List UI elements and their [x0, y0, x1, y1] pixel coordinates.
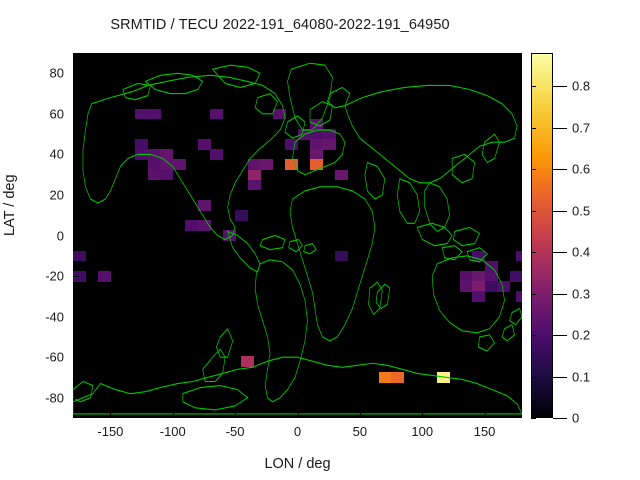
colorbar-tick-label: 0.6: [572, 162, 590, 177]
x-tick-mark: [485, 412, 486, 418]
colorbar-tick-mark: [553, 86, 567, 87]
heatmap-cell: [210, 149, 223, 160]
colorbar-tick-mark-inner: [531, 86, 536, 87]
y-tick-mark: [73, 317, 79, 318]
y-tick-label: -60: [18, 350, 64, 365]
heatmap-cell: [260, 159, 273, 170]
heatmap-cell: [485, 281, 498, 292]
colorbar-tick-label: 0.8: [572, 79, 590, 94]
heatmap-cell: [223, 230, 236, 241]
colorbar-tick-mark-inner: [531, 335, 536, 336]
colorbar-tick-mark: [553, 377, 567, 378]
heatmap-cell: [248, 180, 261, 191]
heatmap-cell: [310, 139, 323, 150]
y-tick-mark: [73, 73, 79, 74]
x-tick-mark: [173, 412, 174, 418]
colorbar-tick-mark-inner: [531, 169, 536, 170]
heatmap-cell: [298, 129, 311, 140]
heatmap-cell: [160, 159, 173, 170]
colorbar-tick-mark: [553, 211, 567, 212]
x-tick-label: 0: [268, 424, 328, 439]
colorbar-tick-mark-inner: [531, 128, 536, 129]
heatmap-cell: [148, 159, 161, 170]
heatmap-cell: [98, 271, 111, 282]
x-tick-mark: [360, 412, 361, 418]
y-tick-label: -40: [18, 309, 64, 324]
heatmap-cell: [335, 251, 348, 262]
heatmap-cell: [160, 170, 173, 181]
colorbar: [531, 53, 553, 418]
heatmap-cell: [135, 149, 148, 160]
heatmap-cell: [198, 139, 211, 150]
heatmap-cell: [516, 291, 522, 302]
heatmap-cell: [148, 170, 161, 181]
heatmap-cell: [472, 271, 485, 282]
heatmap-cell: [497, 281, 510, 292]
heatmap-cell: [241, 356, 254, 367]
heatmap-cell: [285, 159, 298, 170]
heatmap-cell: [210, 109, 223, 120]
heatmap-cell: [148, 109, 161, 120]
x-axis-label: LON / deg: [73, 456, 522, 472]
heatmap-cell: [460, 271, 473, 282]
heatmap-cell: [73, 251, 86, 262]
colorbar-tick-mark-inner: [531, 252, 536, 253]
x-tick-label: -100: [143, 424, 203, 439]
x-tick-label: -50: [205, 424, 265, 439]
heatmap-cell: [248, 159, 261, 170]
heatmap-cell: [185, 220, 198, 231]
map-plot-area: [73, 53, 522, 418]
heatmap-cell: [437, 372, 450, 383]
heatmap-cell: [516, 251, 522, 262]
y-tick-mark: [73, 154, 79, 155]
y-tick-mark: [73, 236, 79, 237]
plot-window: SRMTID / TECU 2022-191_64080-2022-191_64…: [0, 0, 640, 480]
y-tick-label: 60: [18, 106, 64, 121]
heatmap-cell: [160, 149, 173, 160]
y-tick-label: -20: [18, 269, 64, 284]
y-tick-label: -80: [18, 390, 64, 405]
colorbar-tick-mark-inner: [531, 418, 536, 419]
heatmap-cell: [472, 251, 485, 262]
heatmap-cell: [198, 220, 211, 231]
y-tick-mark: [73, 398, 79, 399]
colorbar-tick-label: 0.3: [572, 286, 590, 301]
colorbar-tick-mark: [553, 418, 567, 419]
heatmap-cell: [335, 170, 348, 181]
colorbar-tick-mark-inner: [531, 211, 536, 212]
x-tick-label: 150: [455, 424, 515, 439]
heatmap-cell: [285, 139, 298, 150]
x-tick-label: 100: [392, 424, 452, 439]
heatmap-cell: [148, 149, 161, 160]
x-tick-label: 50: [330, 424, 390, 439]
heatmap-cell: [485, 271, 498, 282]
heatmap-cell: [472, 291, 485, 302]
colorbar-tick-label: 0: [572, 411, 579, 426]
colorbar-tick-mark-inner: [531, 377, 536, 378]
colorbar-tick-mark-inner: [531, 294, 536, 295]
heatmap-cell: [510, 271, 522, 282]
x-tick-mark: [110, 412, 111, 418]
heatmap-cell: [173, 159, 186, 170]
colorbar-tick-label: 0.2: [572, 328, 590, 343]
colorbar-tick-mark: [553, 169, 567, 170]
heatmap-cell: [310, 119, 323, 130]
heatmap-cell: [235, 210, 248, 221]
heatmap-cell: [460, 281, 473, 292]
heatmap-cell: [273, 109, 286, 120]
heatmap-cell: [248, 170, 261, 181]
heatmap-cell: [310, 129, 323, 140]
y-tick-mark: [73, 195, 79, 196]
heatmap-cell: [135, 109, 148, 120]
colorbar-tick-mark: [553, 252, 567, 253]
y-tick-mark: [73, 357, 79, 358]
heatmap-cell: [391, 372, 404, 383]
heatmap-cell: [310, 159, 323, 170]
heatmap-cell: [135, 139, 148, 150]
y-axis-label: LAT / deg: [2, 174, 18, 236]
colorbar-tick-label: 0.4: [572, 245, 590, 260]
heatmap-cell-layer: [73, 53, 522, 418]
heatmap-cell: [485, 261, 498, 272]
y-tick-mark: [73, 114, 79, 115]
colorbar-tick-mark: [553, 294, 567, 295]
y-tick-label: 80: [18, 66, 64, 81]
colorbar-tick-mark: [553, 335, 567, 336]
y-tick-label: 20: [18, 187, 64, 202]
heatmap-cell: [322, 129, 335, 140]
page-title: SRMTID / TECU 2022-191_64080-2022-191_64…: [0, 17, 560, 33]
heatmap-cell: [472, 281, 485, 292]
x-tick-label: -150: [80, 424, 140, 439]
colorbar-tick-label: 0.1: [572, 369, 590, 384]
heatmap-cell: [310, 149, 323, 160]
y-tick-label: 40: [18, 147, 64, 162]
x-tick-mark: [422, 412, 423, 418]
y-tick-label: 0: [18, 228, 64, 243]
x-tick-mark: [298, 412, 299, 418]
y-tick-mark: [73, 276, 79, 277]
heatmap-cell: [379, 372, 392, 383]
colorbar-tick-label: 0.5: [572, 203, 590, 218]
colorbar-tick-label: 0.7: [572, 120, 590, 135]
heatmap-cell: [322, 139, 335, 150]
colorbar-tick-mark: [553, 128, 567, 129]
heatmap-cell: [198, 200, 211, 211]
x-tick-mark: [235, 412, 236, 418]
